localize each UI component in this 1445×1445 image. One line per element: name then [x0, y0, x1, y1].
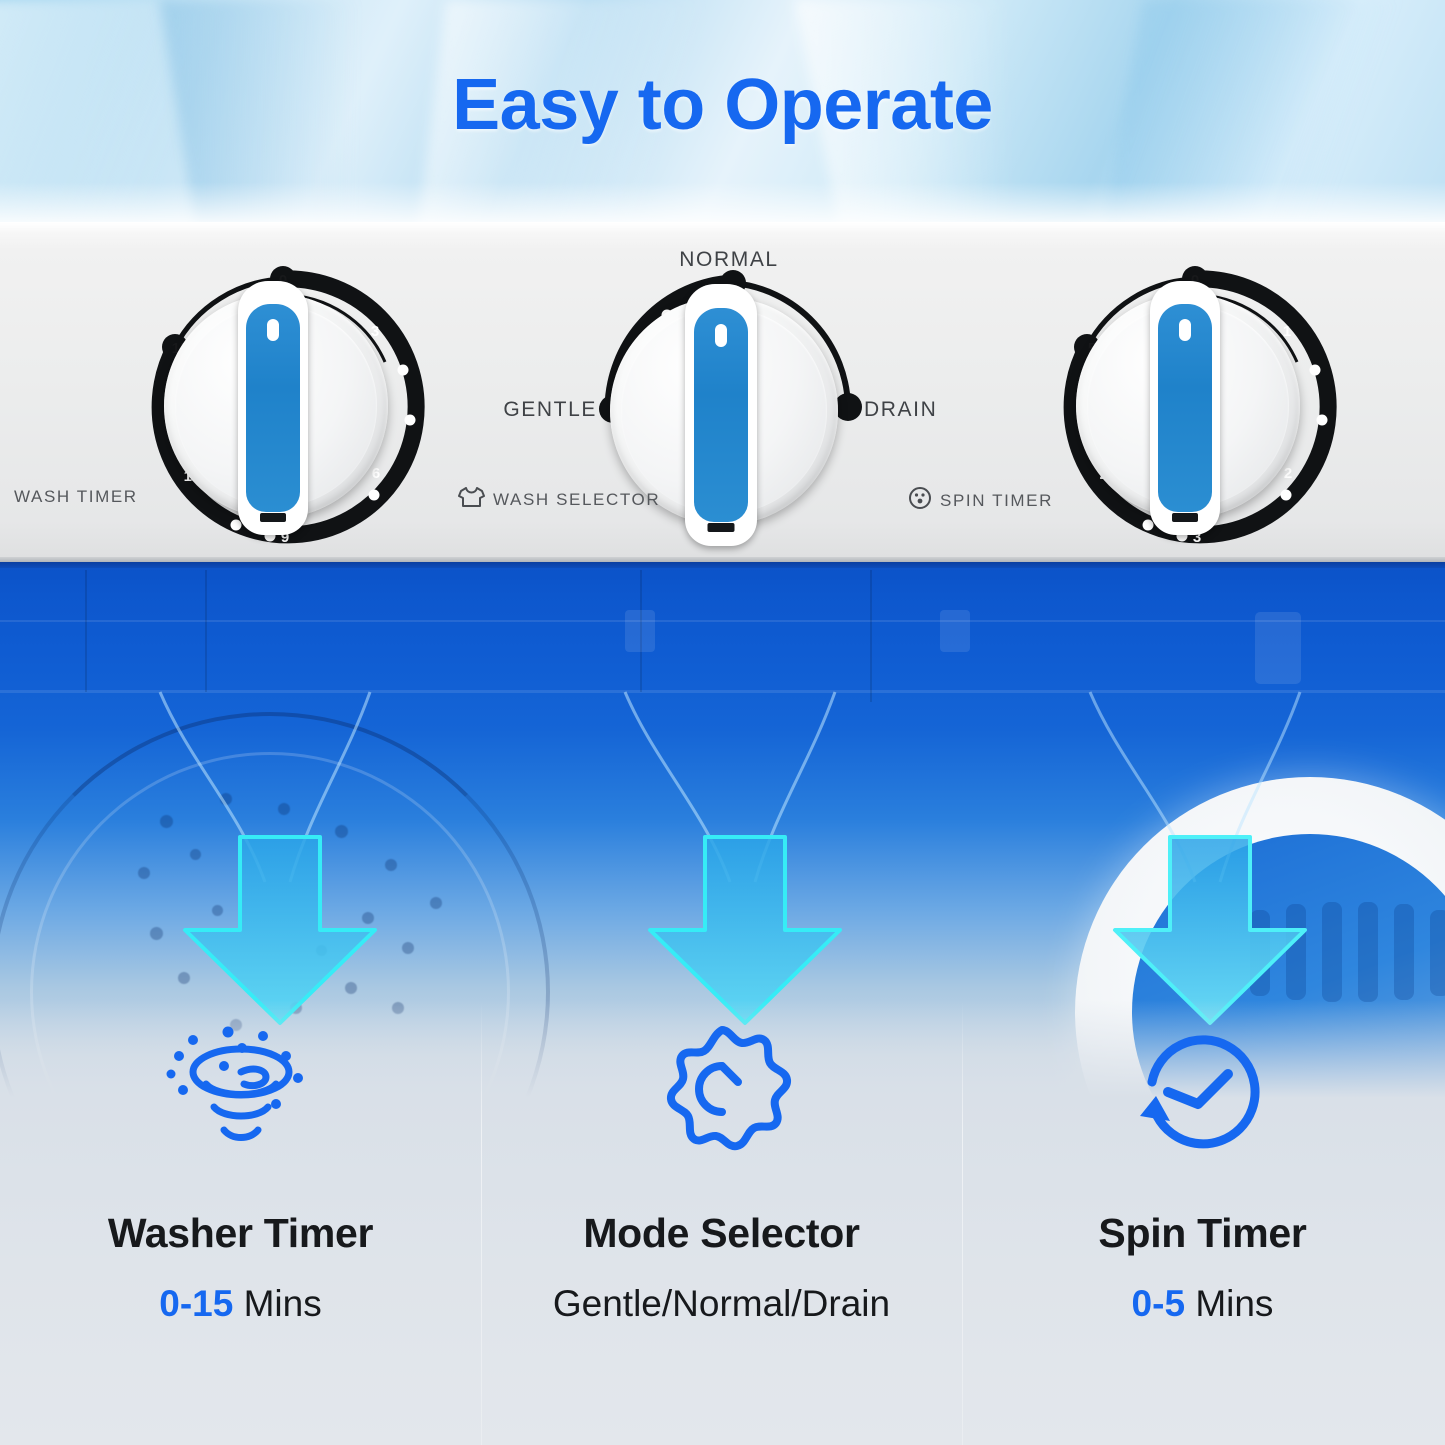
tshirt-icon	[458, 486, 485, 513]
vortex-icon	[166, 1012, 316, 1172]
spin-timer-label-group: SPIN TIMER	[908, 486, 1053, 515]
grip-foot	[1172, 513, 1198, 522]
wash-selector-dial-unit[interactable]: NORMAL GENTLE DRAIN	[563, 244, 893, 562]
feature-value-row: Gentle/Normal/Drain	[553, 1283, 890, 1325]
lid-handle	[625, 610, 655, 652]
lid-divider	[205, 570, 207, 692]
dial-tick-3: 3	[371, 323, 379, 340]
wash-selector-tick-normal: NORMAL	[679, 248, 778, 271]
grip-indicator-dot	[267, 319, 279, 341]
feature-washer-timer: Washer Timer 0-15 Mins	[0, 1000, 481, 1445]
drum-icon	[908, 486, 932, 515]
wash-selector-tick-drain: DRAIN	[864, 398, 937, 421]
lid-handle	[940, 610, 970, 652]
page-title: Easy to Operate	[0, 64, 1445, 146]
dial-tick-1: 1	[1283, 323, 1291, 340]
wash-timer-label: WASH TIMER	[14, 487, 138, 507]
wash-timer-label-group: WASH TIMER	[14, 487, 138, 507]
feature-title: Washer Timer	[108, 1210, 373, 1257]
feature-unit: Mins	[1195, 1283, 1273, 1324]
grip-indicator-dot	[1179, 319, 1191, 341]
feature-title: Mode Selector	[583, 1210, 859, 1257]
spin-timer-grip[interactable]	[1150, 281, 1220, 535]
feature-unit: Gentle/Normal/Drain	[553, 1283, 890, 1324]
lid-divider	[85, 570, 87, 692]
down-arrow-wash	[160, 837, 400, 1027]
washer-control-panel: 0 3 6 9 12 15 WASH TIMER	[0, 222, 1445, 562]
feature-unit: Mins	[244, 1283, 322, 1324]
feature-value-row: 0-15 Mins	[159, 1283, 321, 1325]
wash-timer-dial-unit[interactable]: 0 3 6 9 12 15	[118, 257, 448, 557]
grip-indicator-dot	[715, 324, 727, 347]
grip-foot	[260, 513, 286, 522]
clock-arrow-icon	[1130, 1012, 1275, 1172]
feature-mode-selector: Mode Selector Gentle/Normal/Drain	[481, 1000, 962, 1445]
down-arrow-spin	[1090, 837, 1330, 1027]
lid-handle	[1255, 612, 1301, 684]
grip-foot	[708, 523, 735, 532]
wash-selector-label: WASH SELECTOR	[493, 490, 660, 510]
feature-value: 0-15	[159, 1283, 233, 1324]
feature-title: Spin Timer	[1098, 1210, 1306, 1257]
wash-selector-tick-gentle: GENTLE	[503, 398, 597, 421]
feature-value-row: 0-5 Mins	[1132, 1283, 1274, 1325]
lid-divider	[870, 570, 872, 702]
hero-banner: Easy to Operate	[0, 0, 1445, 222]
spin-timer-label: SPIN TIMER	[940, 491, 1053, 511]
hero-glow	[0, 182, 1445, 222]
spin-timer-dial-unit[interactable]: 0 1 2 3 4 5	[1030, 257, 1360, 557]
wash-selector-grip[interactable]	[685, 284, 757, 546]
lid-seam	[0, 620, 1445, 622]
wash-timer-grip[interactable]	[238, 281, 308, 535]
machine-top-edge	[0, 562, 1445, 568]
dial-tick-6: 6	[372, 465, 380, 482]
dial-tick-2: 2	[1284, 465, 1292, 482]
gear-icon	[652, 1012, 792, 1172]
feature-value: 0-5	[1132, 1283, 1185, 1324]
feature-spin-timer: Spin Timer 0-5 Mins	[962, 1000, 1443, 1445]
wash-selector-label-group: WASH SELECTOR	[458, 486, 660, 513]
down-arrow-mode	[625, 837, 865, 1027]
